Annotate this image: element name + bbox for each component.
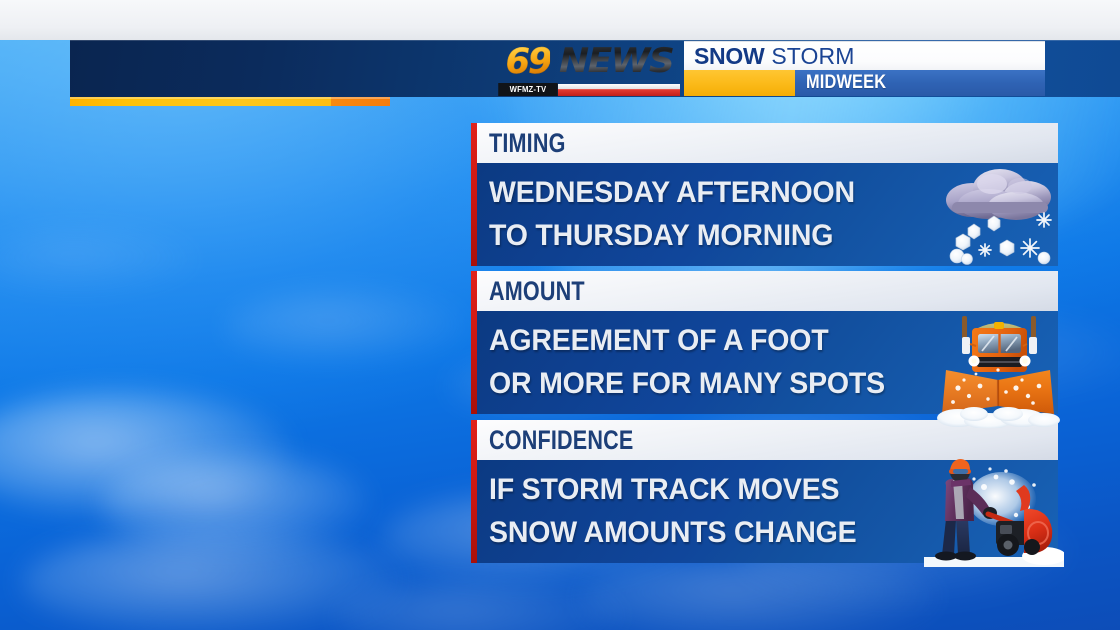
storm-title-row: SNOW STORM bbox=[684, 41, 1045, 70]
callsign-label: WFMZ-TV bbox=[498, 83, 558, 96]
storm-subtitle-text: MIDWEEK bbox=[806, 72, 886, 94]
station-logo: 69 WFMZ-TV NEWS bbox=[498, 41, 680, 96]
storm-title-primary: SNOW bbox=[694, 43, 764, 70]
panel-red-accent-bar bbox=[471, 420, 477, 563]
panel-body-timing: WEDNESDAY AFTERNOON TO THURSDAY MORNING bbox=[477, 163, 1058, 266]
channel-number-text: 69 bbox=[506, 41, 551, 81]
panel-header-label: TIMING bbox=[489, 128, 566, 159]
network-word-block: NEWS bbox=[558, 41, 680, 96]
panel-header-label: CONFIDENCE bbox=[489, 425, 633, 456]
panel-header-amount: AMOUNT bbox=[477, 271, 1058, 311]
panel-body-line: SNOW AMOUNTS CHANGE bbox=[489, 511, 1030, 554]
storm-title-block: SNOW STORM MIDWEEK bbox=[684, 41, 1045, 96]
storm-subtitle-row: MIDWEEK bbox=[684, 70, 1045, 96]
panel-body-confidence: IF STORM TRACK MOVES SNOW AMOUNTS CHANGE bbox=[477, 460, 1058, 563]
panel-header-label: AMOUNT bbox=[489, 276, 585, 307]
logo-red-underbar bbox=[558, 84, 680, 96]
header-accent-strip bbox=[70, 97, 390, 106]
info-panel-confidence: CONFIDENCE IF STORM TRACK MOVES SNOW AMO… bbox=[471, 420, 1058, 563]
panel-body-line: OR MORE FOR MANY SPOTS bbox=[489, 362, 1030, 405]
top-white-band bbox=[0, 0, 1120, 40]
panel-body-line: TO THURSDAY MORNING bbox=[489, 214, 1030, 257]
panel-body-line: AGREEMENT OF A FOOT bbox=[489, 319, 1030, 362]
panel-header-timing: TIMING bbox=[477, 123, 1058, 163]
info-panel-timing: TIMING WEDNESDAY AFTERNOON TO THURSDAY M… bbox=[471, 123, 1058, 266]
info-panel-amount: AMOUNT AGREEMENT OF A FOOT OR MORE FOR M… bbox=[471, 271, 1058, 414]
weather-graphic-stage: 69 WFMZ-TV NEWS SNOW STORM MIDWEEK TIMIN… bbox=[0, 0, 1120, 630]
panel-body-line: WEDNESDAY AFTERNOON bbox=[489, 171, 1030, 214]
storm-title-secondary: STORM bbox=[771, 43, 854, 70]
network-word-text: NEWS bbox=[558, 41, 673, 82]
panel-red-accent-bar bbox=[471, 123, 477, 266]
panel-red-accent-bar bbox=[471, 271, 477, 414]
panel-body-amount: AGREEMENT OF A FOOT OR MORE FOR MANY SPO… bbox=[477, 311, 1058, 414]
gold-accent-block bbox=[684, 70, 795, 96]
panel-body-line: IF STORM TRACK MOVES bbox=[489, 468, 1030, 511]
panel-header-confidence: CONFIDENCE bbox=[477, 420, 1058, 460]
channel-number-block: 69 WFMZ-TV bbox=[498, 41, 558, 96]
